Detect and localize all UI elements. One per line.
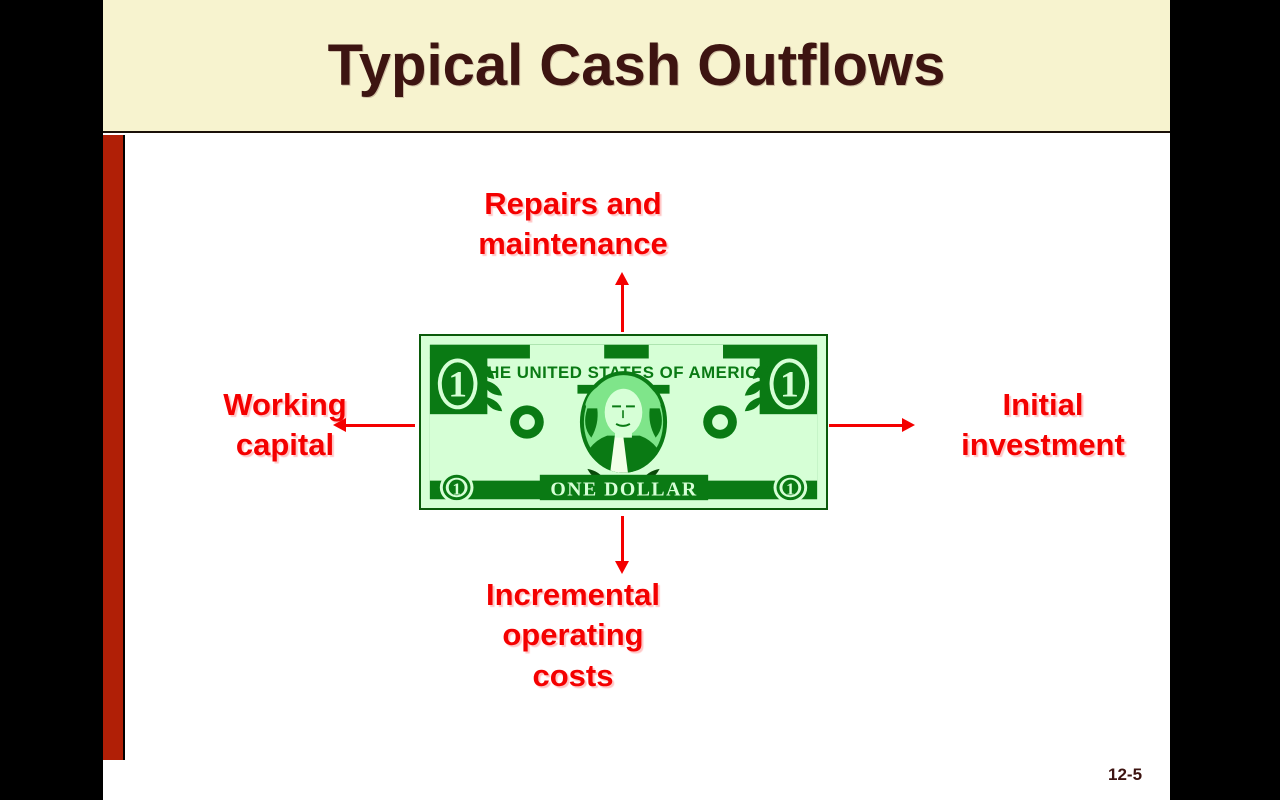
left-accent-bar [103,135,125,760]
arrow-down-shaft [621,516,624,564]
svg-text:1: 1 [448,365,467,406]
arrow-down-icon [614,516,630,574]
title-band: Typical Cash Outflows [103,0,1170,133]
page-number: 12-5 [1108,765,1142,785]
arrow-right-icon [829,417,915,433]
arrow-down-head [615,561,629,574]
svg-text:1: 1 [780,365,799,406]
slide-canvas: Typical Cash Outflows Repairs and mainte… [103,0,1170,800]
arrow-left-head [333,418,346,432]
slide-root: Typical Cash Outflows Repairs and mainte… [0,0,1280,800]
callout-label-initial-investment: Initial investment [893,385,1193,466]
svg-text:1: 1 [452,479,460,498]
arrow-left-icon [333,417,415,433]
arrow-up-icon [614,272,630,332]
dollar-bill-icon: 1 1 THE UNITED STATES OF AMERICA [419,334,828,510]
callout-label-incremental-operating-costs: Incremental operating costs [423,575,723,696]
arrow-right-shaft [829,424,905,427]
dollar-bill-graphic: 1 1 THE UNITED STATES OF AMERICA [421,336,826,508]
svg-text:1: 1 [786,479,794,498]
arrow-left-shaft [343,424,415,427]
callout-label-repairs-and-maintenance: Repairs and maintenance [423,184,723,265]
arrow-up-head [615,272,629,285]
svg-text:ONE DOLLAR: ONE DOLLAR [550,478,697,500]
arrow-up-shaft [621,282,624,332]
page-title: Typical Cash Outflows [103,0,1170,131]
arrow-right-head [902,418,915,432]
